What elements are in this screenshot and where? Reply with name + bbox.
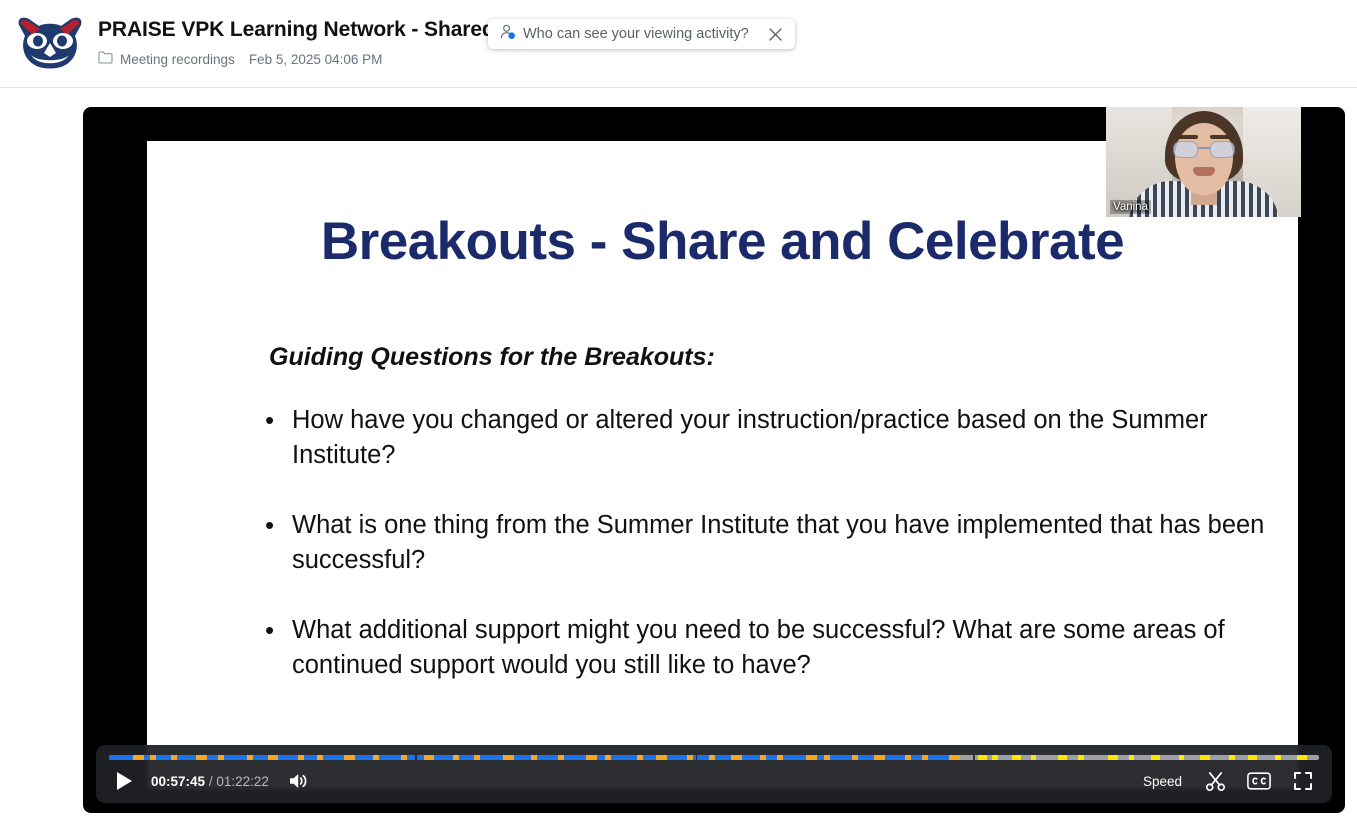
person-activity-icon xyxy=(500,24,516,45)
speed-button[interactable]: Speed xyxy=(1137,770,1188,793)
bullet-text: What additional support might you need t… xyxy=(292,613,1275,682)
list-item: • How have you changed or altered your i… xyxy=(265,403,1275,472)
speaker-brow-left xyxy=(1174,135,1198,139)
breadcrumb: Meeting recordings Feb 5, 2025 04:06 PM xyxy=(98,51,750,69)
glasses-icon xyxy=(1173,141,1235,158)
player-controls[interactable]: 00:57:45 / 01:22:22 Speed xyxy=(96,745,1332,803)
shared-screen-slide: Breakouts - Share and Celebrate Guiding … xyxy=(147,141,1298,789)
toast-label: Who can see your viewing activity? xyxy=(523,26,749,42)
speaker-video-thumbnail[interactable]: Vanina xyxy=(1106,107,1301,217)
list-item: • What additional support might you need… xyxy=(265,613,1275,682)
control-row: 00:57:45 / 01:22:22 Speed xyxy=(96,759,1332,803)
glasses-lens-right xyxy=(1210,141,1235,158)
glasses-lens-left xyxy=(1173,141,1198,158)
bullet-glyph: • xyxy=(265,403,292,472)
scissors-icon[interactable] xyxy=(1198,764,1232,798)
speaker-mouth xyxy=(1193,167,1215,176)
bullet-text: How have you changed or altered your ins… xyxy=(292,403,1275,472)
glasses-bridge xyxy=(1198,147,1210,149)
viewing-activity-toast[interactable]: Who can see your viewing activity? xyxy=(488,19,795,49)
time-readout: 00:57:45 / 01:22:22 xyxy=(151,774,269,789)
total-time: 01:22:22 xyxy=(216,774,269,789)
bullet-text: What is one thing from the Summer Instit… xyxy=(292,508,1275,577)
speaker-brow-right xyxy=(1210,135,1234,139)
breadcrumb-folder-label[interactable]: Meeting recordings xyxy=(120,52,235,68)
slide-subtitle: Guiding Questions for the Breakouts: xyxy=(269,343,715,372)
speaker-name-label: Vanina xyxy=(1110,200,1151,214)
video-player-stage[interactable]: Breakouts - Share and Celebrate Guiding … xyxy=(83,107,1345,813)
play-icon[interactable] xyxy=(103,760,145,802)
fullscreen-icon[interactable] xyxy=(1286,764,1320,798)
speaker-face xyxy=(1175,123,1233,195)
current-time: 00:57:45 xyxy=(151,774,205,789)
volume-on-icon[interactable] xyxy=(283,765,315,797)
fau-owl-logo xyxy=(12,14,88,74)
slide-title: Breakouts - Share and Celebrate xyxy=(147,211,1298,272)
close-icon[interactable] xyxy=(767,25,785,43)
recording-date: Feb 5, 2025 04:06 PM xyxy=(249,52,383,68)
slide-bullet-list: • How have you changed or altered your i… xyxy=(265,403,1275,718)
time-separator: / xyxy=(209,774,213,789)
closed-captions-icon[interactable] xyxy=(1242,764,1276,798)
bullet-glyph: • xyxy=(265,508,292,577)
bullet-glyph: • xyxy=(265,613,292,682)
list-item: • What is one thing from the Summer Inst… xyxy=(265,508,1275,577)
folder-icon xyxy=(98,51,113,69)
